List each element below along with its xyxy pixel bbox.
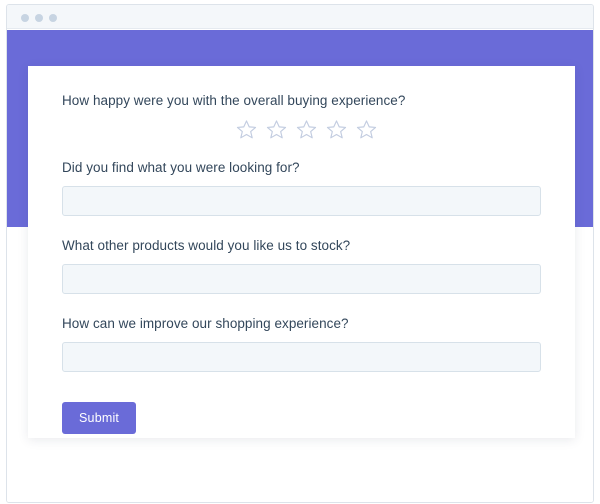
window-minimize-dot-icon[interactable] [35,14,43,22]
star-icon-4[interactable] [326,119,347,140]
question-label-products-to-stock: What other products would you like us to… [62,237,545,255]
star-icon-5[interactable] [356,119,377,140]
question-label-improve-shopping-experience: How can we improve our shopping experien… [62,315,545,333]
question-label-buying-experience: How happy were you with the overall buyi… [62,92,545,110]
field-group-improve-shopping-experience: How can we improve our shopping experien… [62,315,545,372]
window-maximize-dot-icon[interactable] [49,14,57,22]
field-group-found-what-looking-for: Did you find what you were looking for? [62,159,545,216]
answer-input-products-to-stock[interactable] [62,264,541,294]
star-icon-3[interactable] [296,119,317,140]
question-label-found-what-looking-for: Did you find what you were looking for? [62,159,545,177]
feedback-form-card: How happy were you with the overall buyi… [28,66,575,438]
submit-button[interactable]: Submit [62,402,136,434]
star-icon-1[interactable] [236,119,257,140]
star-rating-input[interactable] [62,119,545,140]
browser-window: How happy were you with the overall buyi… [6,4,594,503]
field-group-rating: How happy were you with the overall buyi… [62,92,545,140]
star-icon-2[interactable] [266,119,287,140]
browser-title-bar [7,5,593,29]
answer-input-found-what-looking-for[interactable] [62,186,541,216]
answer-input-improve-shopping-experience[interactable] [62,342,541,372]
page-body: How happy were you with the overall buyi… [7,30,593,503]
window-close-dot-icon[interactable] [21,14,29,22]
field-group-products-to-stock: What other products would you like us to… [62,237,545,294]
form-fields-container: How happy were you with the overall buyi… [62,92,545,434]
